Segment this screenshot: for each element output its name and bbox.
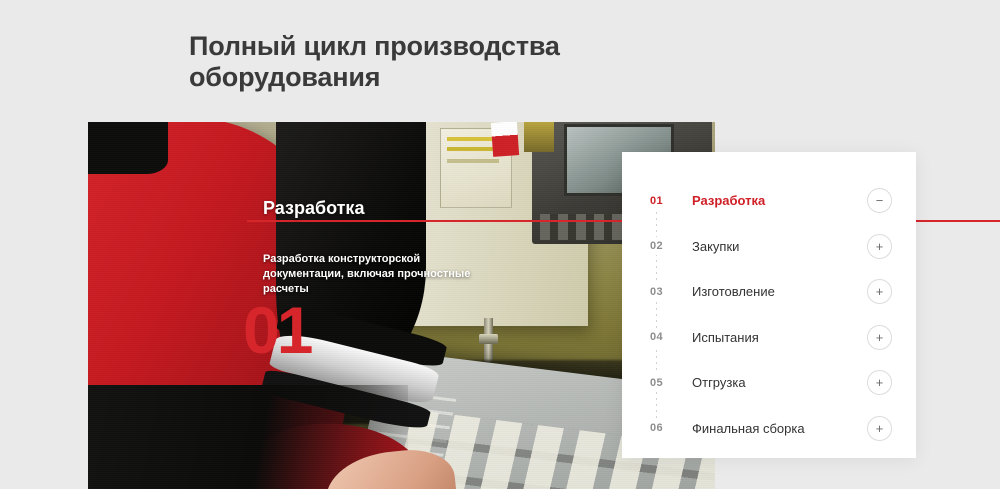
plus-icon[interactable]: + bbox=[867, 416, 892, 441]
accordion-item-number: 04 bbox=[650, 328, 692, 346]
worker-shoulder-dark bbox=[88, 122, 168, 174]
accordion-item-number: 06 bbox=[650, 419, 692, 437]
plus-icon[interactable]: + bbox=[867, 234, 892, 259]
red-warning-sticker bbox=[491, 122, 519, 157]
accordion-item-label: Изготовление bbox=[692, 284, 867, 299]
yellow-sticker bbox=[524, 122, 554, 152]
accordion-item-label: Отгрузка bbox=[692, 375, 867, 390]
accordion-item-otgruzka[interactable]: 05 Отгрузка + bbox=[622, 360, 916, 406]
accordion-item-number: 01 bbox=[650, 192, 692, 210]
plus-icon[interactable]: + bbox=[867, 370, 892, 395]
accordion-list: 01 Разработка − 02 Закупки + 03 Изготовл… bbox=[622, 152, 916, 451]
accordion-item-label: Испытания bbox=[692, 330, 867, 345]
minus-icon[interactable]: − bbox=[867, 188, 892, 213]
overlay-step-title: Разработка bbox=[263, 198, 364, 219]
accordion-item-number: 05 bbox=[650, 374, 692, 392]
plus-icon[interactable]: + bbox=[867, 325, 892, 350]
accordion-item-label: Закупки bbox=[692, 239, 867, 254]
plus-icon[interactable]: + bbox=[867, 279, 892, 304]
photo-illustration bbox=[88, 122, 715, 489]
accordion-item-zakupki[interactable]: 02 Закупки + bbox=[622, 224, 916, 270]
overlay-step-description: Разработка конструкторской документации,… bbox=[263, 252, 478, 297]
accordion-item-label: Финальная сборка bbox=[692, 421, 867, 436]
accordion-item-ispytaniya[interactable]: 04 Испытания + bbox=[622, 315, 916, 361]
accordion-item-label: Разработка bbox=[692, 193, 867, 208]
overlay-step-number: 01 bbox=[243, 300, 310, 360]
page-title: Полный цикл производства оборудования bbox=[189, 31, 609, 93]
accordion-item-razrabotka[interactable]: 01 Разработка − bbox=[622, 178, 916, 224]
process-photo bbox=[88, 122, 715, 489]
accordion-item-finalnaya-sborka[interactable]: 06 Финальная сборка + bbox=[622, 406, 916, 452]
accordion-item-number: 02 bbox=[650, 237, 692, 255]
accordion-item-izgotovlenie[interactable]: 03 Изготовление + bbox=[622, 269, 916, 315]
accordion-item-number: 03 bbox=[650, 283, 692, 301]
process-accordion-panel: 01 Разработка − 02 Закупки + 03 Изготовл… bbox=[622, 152, 916, 458]
